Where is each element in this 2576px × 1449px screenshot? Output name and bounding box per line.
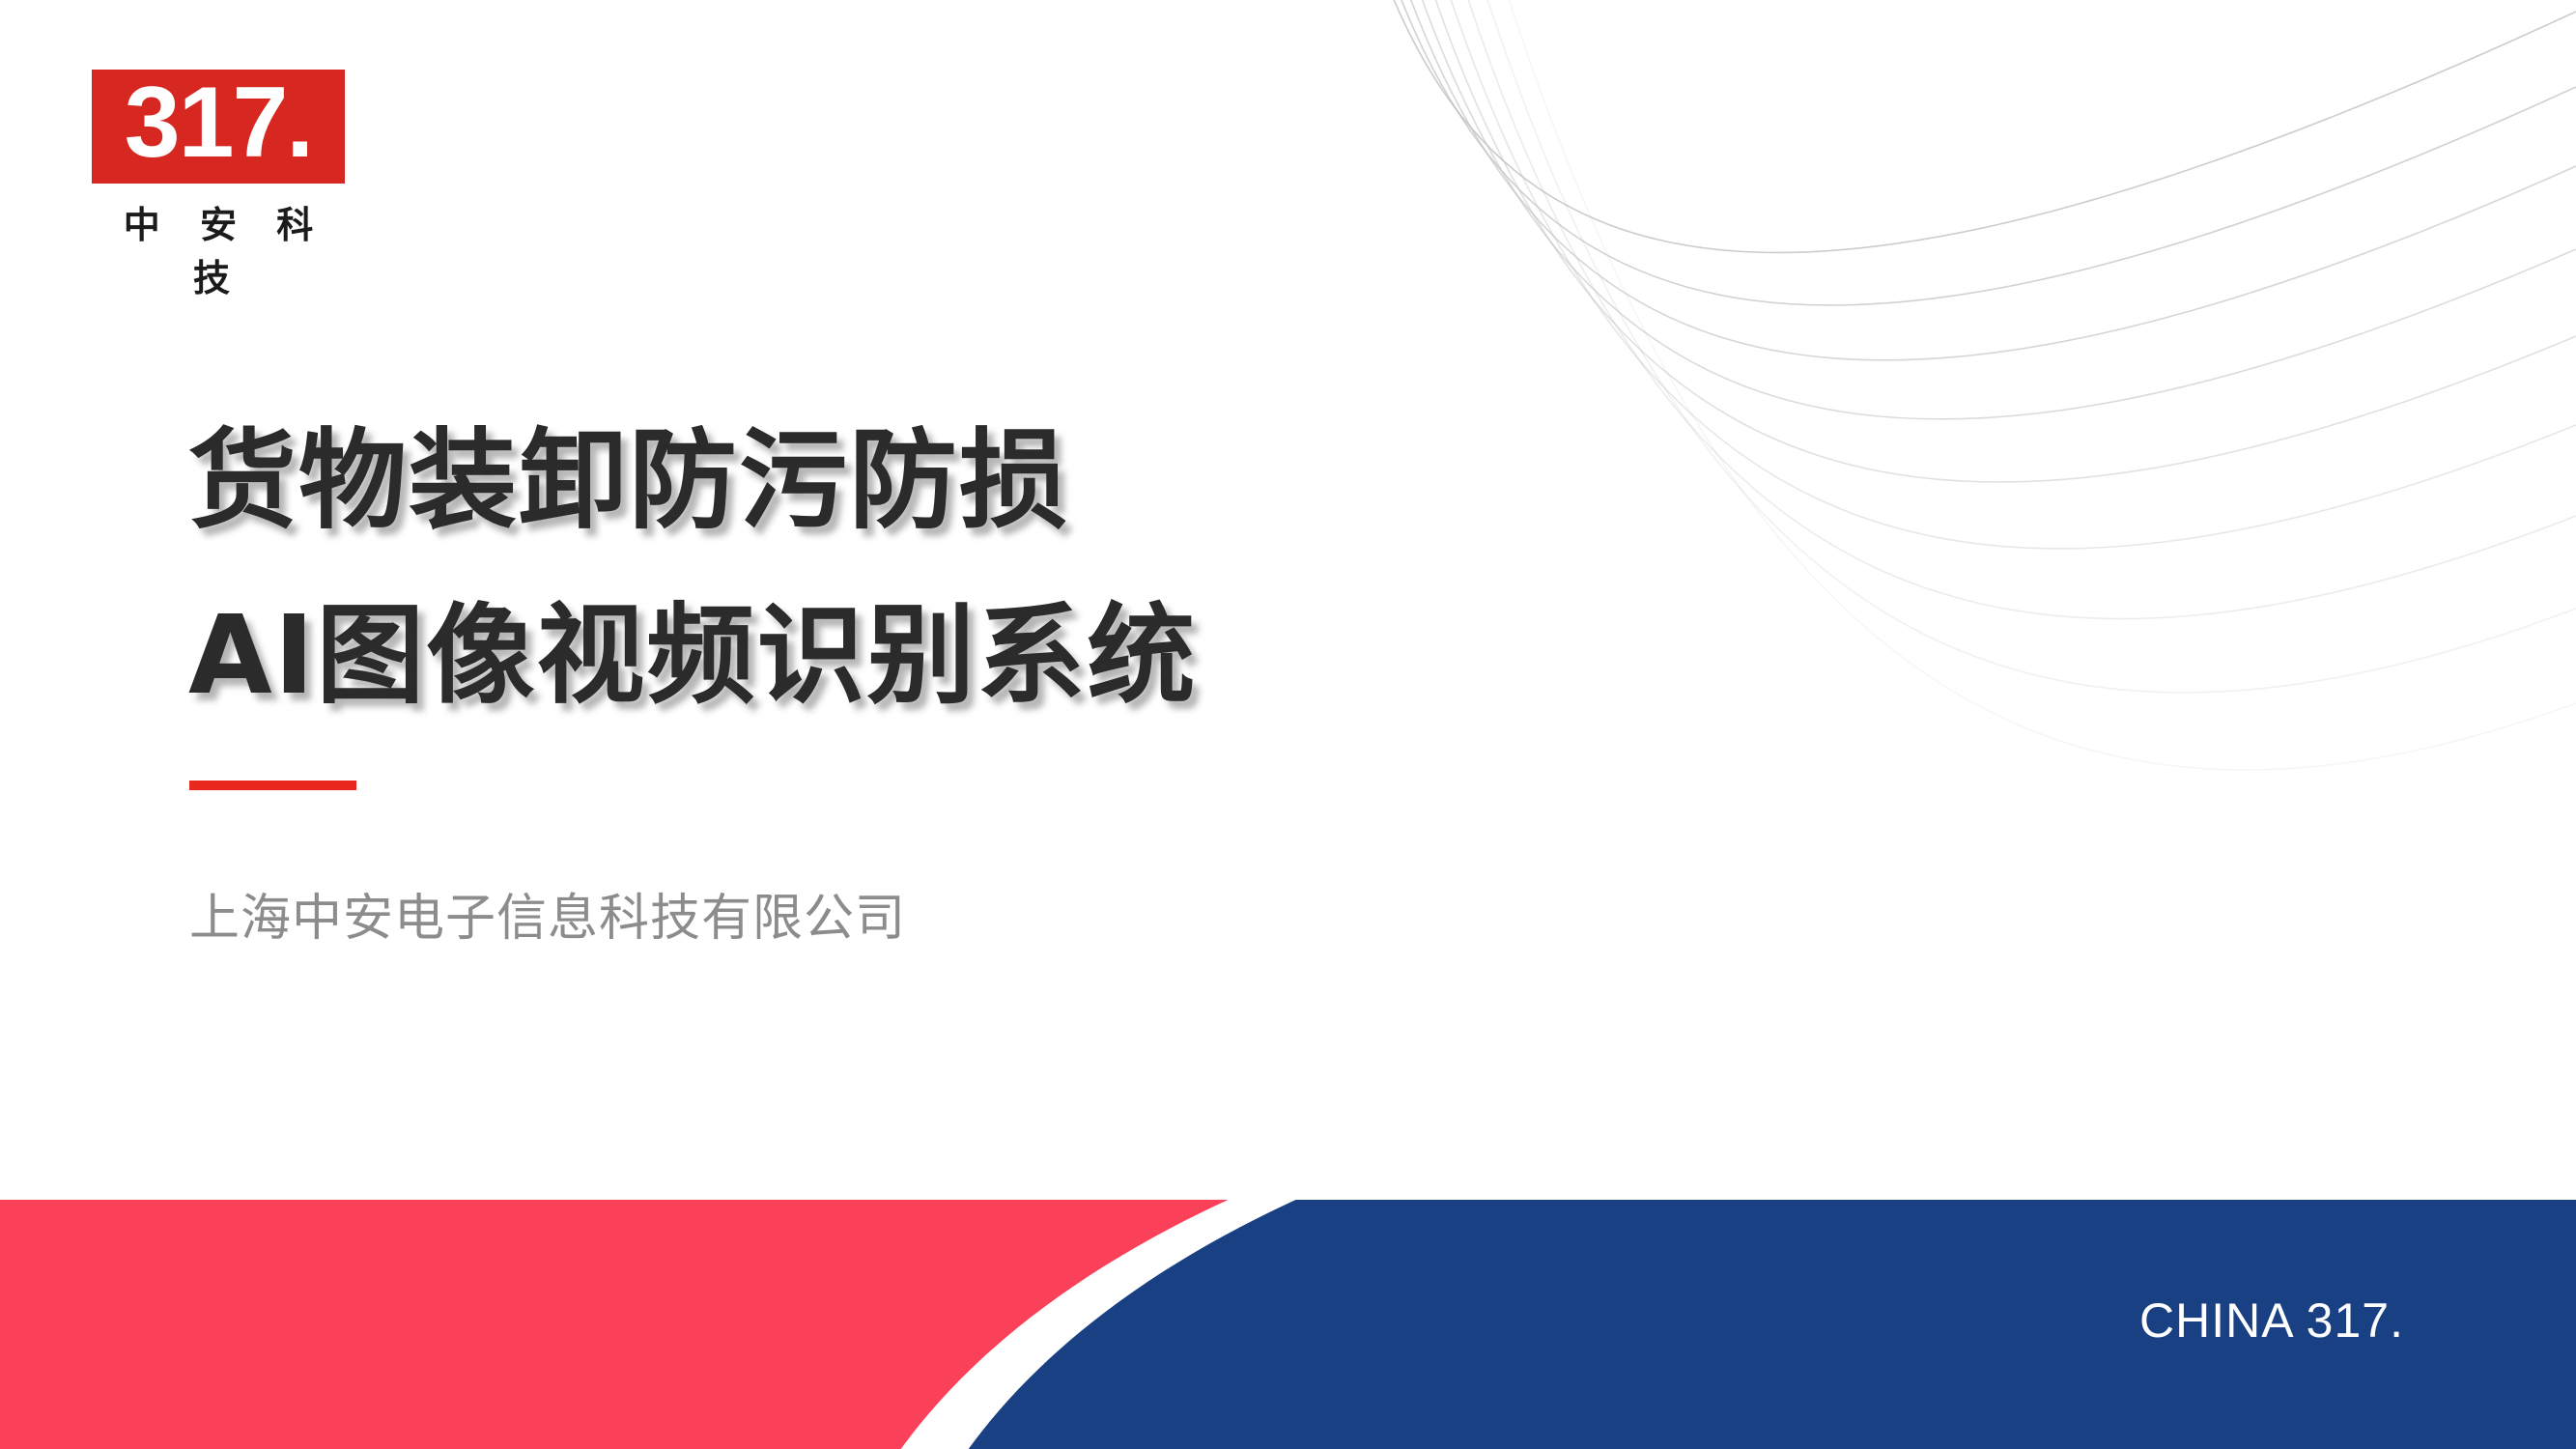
title-divider-rule [189, 781, 356, 790]
curved-line-fan-decoration [1378, 0, 2576, 802]
logo-mark-text: 317. [125, 72, 312, 173]
company-logo: 317. 中 安 科 技 [92, 70, 351, 301]
slide-title-line-1: 货物装卸防污防损 [188, 394, 1197, 569]
slide-title: 货物装卸防污防损 AI图像视频识别系统 [188, 394, 1197, 745]
banner-caption-china-317: CHINA 317. [2139, 1293, 2404, 1349]
bottom-banner: CHINA 317. [0, 1200, 2576, 1449]
logo-mark-317: 317. [92, 70, 345, 184]
title-slide: 317. 中 安 科 技 货物装卸防污防损 AI图像视频识别系统 上海中安电子信… [0, 0, 2576, 1449]
slide-subtitle-company: 上海中安电子信息科技有限公司 [189, 877, 906, 950]
slide-title-line-2: AI图像视频识别系统 [188, 569, 1197, 744]
logo-company-short-name: 中 安 科 技 [92, 195, 345, 301]
